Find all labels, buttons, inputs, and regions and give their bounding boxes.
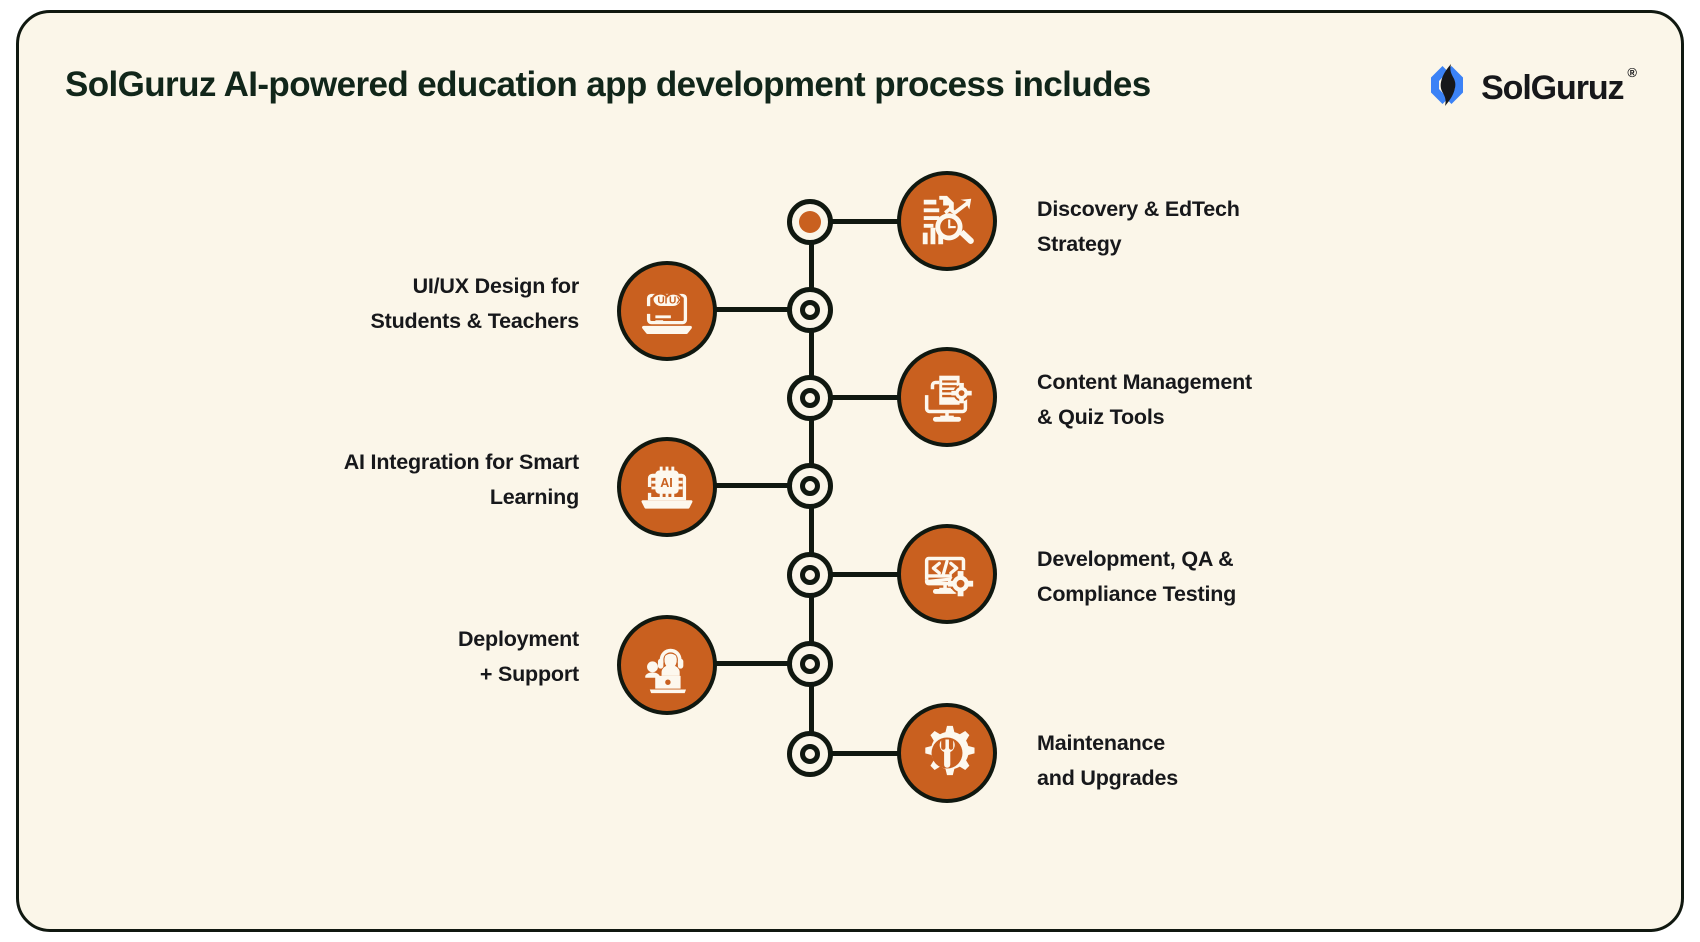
step-icon-badge-4[interactable]: AI [617,437,717,537]
timeline-node-core-5 [800,565,820,585]
timeline-node-core-2 [800,300,820,320]
step-label-6-line2: + Support [249,657,579,692]
document-magnifier-analytics-icon [916,190,978,252]
step-label-6: Deployment + Support [249,622,579,692]
timeline-node-core-1 [799,211,821,233]
step-label-7-line1: Maintenance [1037,726,1367,761]
step-label-2: UI/UX Design for Students & Teachers [249,269,579,339]
step-label-3-line2: & Quiz Tools [1037,400,1367,435]
timeline-node-core-3 [800,388,820,408]
step-label-6-line1: Deployment [249,622,579,657]
step-icon-badge-5[interactable] [897,524,997,624]
connector-step-4 [715,483,793,488]
monitor-document-gear-icon [916,366,978,428]
process-timeline: Discovery & EdTech Strategy UI UX UI/UX … [19,13,1681,929]
timeline-node-5[interactable] [787,552,833,598]
step-label-1-line1: Discovery & EdTech [1037,192,1367,227]
step-label-5: Development, QA & Compliance Testing [1037,542,1367,612]
step-label-3: Content Management & Quiz Tools [1037,365,1367,435]
connector-step-7 [825,751,905,756]
laptop-ui-ux-bubbles-icon: UI UX [636,280,698,342]
timeline-node-core-7 [800,744,820,764]
step-label-3-line1: Content Management [1037,365,1367,400]
step-icon-badge-3[interactable] [897,347,997,447]
step-label-7-line2: and Upgrades [1037,761,1367,796]
laptop-ai-chip-icon: AI [636,456,698,518]
step-icon-badge-2[interactable]: UI UX [617,261,717,361]
timeline-node-core-6 [800,654,820,674]
connector-step-2 [715,307,793,312]
timeline-node-4[interactable] [787,463,833,509]
connector-step-1 [825,219,905,224]
infographic-card: SolGuruz AI-powered education app develo… [16,10,1684,932]
step-label-4-line2: Learning [249,480,579,515]
step-label-5-line1: Development, QA & [1037,542,1367,577]
step-label-4: AI Integration for Smart Learning [249,445,579,515]
step-label-5-line2: Compliance Testing [1037,577,1367,612]
timeline-node-6[interactable] [787,641,833,687]
step-icon-badge-7[interactable] [897,703,997,803]
step-icon-badge-6[interactable] [617,615,717,715]
gear-wrench-icon [916,722,978,784]
svg-text:UI: UI [657,295,667,306]
svg-text:AI: AI [660,476,673,490]
monitor-code-gear-icon [916,543,978,605]
timeline-node-3[interactable] [787,375,833,421]
timeline-node-core-4 [800,476,820,496]
svg-text:UX: UX [669,295,683,306]
timeline-node-7[interactable] [787,731,833,777]
connector-step-3 [825,395,905,400]
step-label-1: Discovery & EdTech Strategy [1037,192,1367,262]
connector-step-5 [825,572,905,577]
step-icon-badge-1[interactable] [897,171,997,271]
support-agent-laptop-icon [638,636,696,694]
step-label-2-line2: Students & Teachers [249,304,579,339]
step-label-1-line2: Strategy [1037,227,1367,262]
step-label-7: Maintenance and Upgrades [1037,726,1367,796]
timeline-node-2[interactable] [787,287,833,333]
step-label-4-line1: AI Integration for Smart [249,445,579,480]
connector-step-6 [715,661,793,666]
step-label-2-line1: UI/UX Design for [249,269,579,304]
timeline-node-1[interactable] [787,199,833,245]
